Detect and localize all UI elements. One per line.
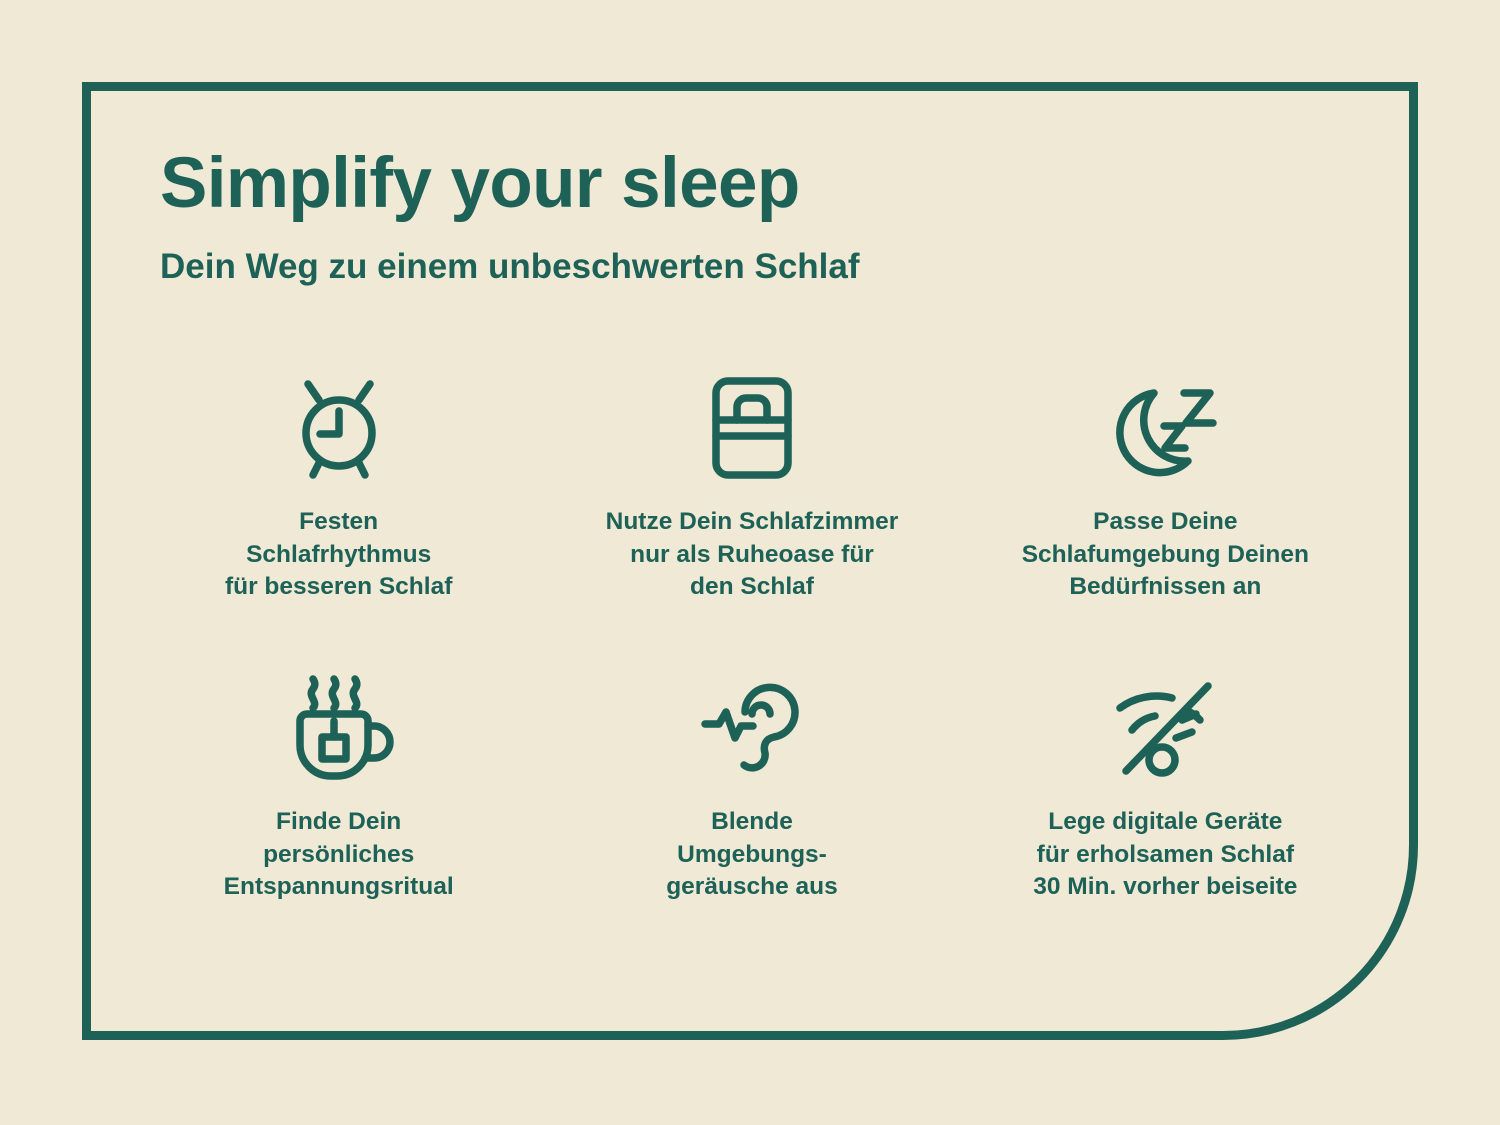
tip-label: Nutze Dein Schlafzimmer nur als Ruheoase… [606, 506, 899, 604]
tea-cup-icon [286, 672, 392, 784]
tip-label: Blende Umgebungs- geräusche aus [666, 806, 838, 904]
tip-item: Passe Deine Schlafumgebung Deinen Bedürf… [959, 372, 1372, 672]
page-subtitle: Dein Weg zu einem unbeschwerten Schlaf [160, 219, 1260, 284]
tip-label: Finde Dein persönliches Entspannungsritu… [224, 806, 454, 904]
ear-sound-icon [697, 672, 807, 784]
tip-item: Festen Schlafrhythmus für besseren Schla… [132, 372, 545, 672]
wifi-off-icon [1110, 672, 1220, 784]
bed-icon [709, 372, 795, 484]
tip-item: Nutze Dein Schlafzimmer nur als Ruheoase… [545, 372, 958, 672]
alarm-clock-icon [287, 372, 391, 484]
tip-label: Passe Deine Schlafumgebung Deinen Bedürf… [1022, 506, 1309, 604]
tip-item: Finde Dein persönliches Entspannungsritu… [132, 672, 545, 972]
page-title: Simplify your sleep [160, 148, 1260, 219]
infographic-poster: Simplify your sleep Dein Weg zu einem un… [0, 0, 1500, 1125]
tip-label: Lege digitale Geräte für erholsamen Schl… [1033, 806, 1297, 904]
header-block: Simplify your sleep Dein Weg zu einem un… [160, 148, 1260, 284]
tip-item: Blende Umgebungs- geräusche aus [545, 672, 958, 972]
moon-zzz-icon [1110, 372, 1220, 484]
tip-item: Lege digitale Geräte für erholsamen Schl… [959, 672, 1372, 972]
tips-grid: Festen Schlafrhythmus für besseren Schla… [132, 372, 1372, 972]
tip-label: Festen Schlafrhythmus für besseren Schla… [225, 506, 452, 604]
